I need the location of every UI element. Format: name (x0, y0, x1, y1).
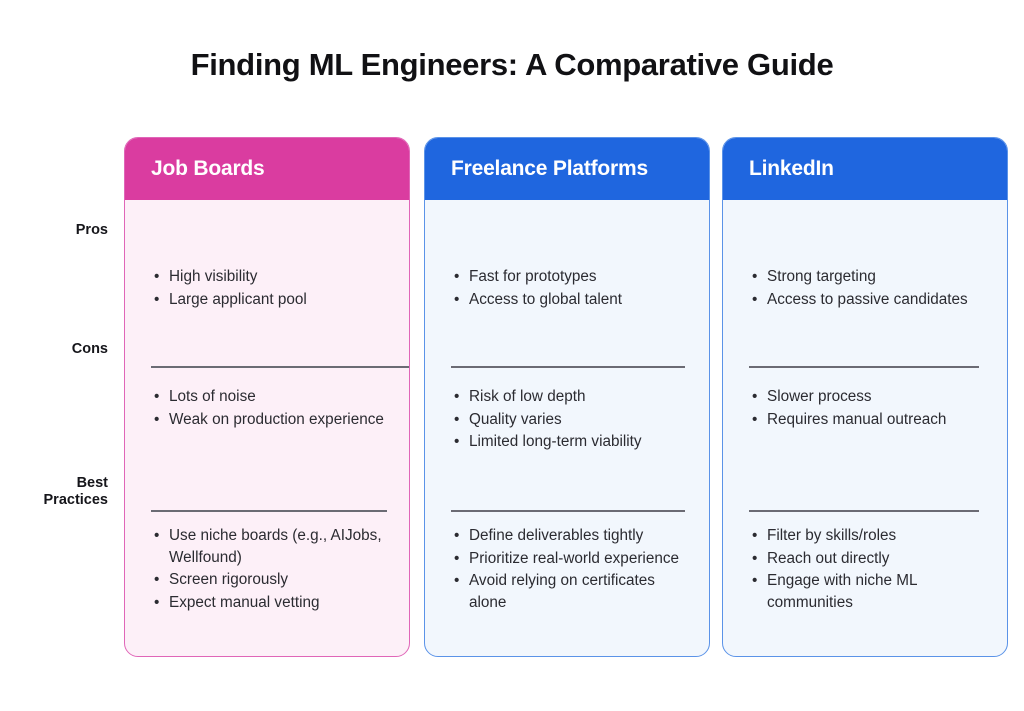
list-item-text: Reach out directly (767, 550, 889, 567)
bullet-icon: • (454, 525, 459, 547)
bullet-icon: • (752, 409, 757, 431)
list-item-text: Screen rigorously (169, 571, 288, 588)
list-item: •Slower process (767, 386, 989, 408)
bullet-icon: • (154, 386, 159, 408)
list-item-text: Requires manual outreach (767, 411, 946, 428)
bullet-icon: • (454, 289, 459, 311)
list-item: •Access to passive candidates (767, 289, 989, 311)
list-item: •Use niche boards (e.g., AIJobs, Wellfou… (169, 525, 391, 568)
list-item: •Strong targeting (767, 266, 989, 288)
section-best-practices: •Define deliverables tightly•Prioritize … (451, 525, 691, 614)
list-item: •Avoid relying on certificates alone (469, 570, 691, 613)
row-label-cons: Cons (14, 341, 108, 358)
list-item: •Screen rigorously (169, 569, 391, 591)
list-item: •Large applicant pool (169, 289, 391, 311)
list-item-text: Define deliverables tightly (469, 527, 643, 544)
list-item-text: Avoid relying on certificates alone (469, 572, 655, 611)
section-divider-2 (151, 510, 387, 512)
list-item: •High visibility (169, 266, 391, 288)
list-item-text: Quality varies (469, 411, 562, 428)
column-header-title: Job Boards (151, 157, 265, 181)
column-header-title: Freelance Platforms (451, 157, 648, 181)
bullet-icon: • (154, 569, 159, 591)
bullet-icon: • (454, 386, 459, 408)
column-body-freelance-platforms: •Fast for prototypes•Access to global ta… (425, 200, 709, 656)
list-item: •Fast for prototypes (469, 266, 691, 288)
row-label-column: Pros Cons Best Practices (14, 137, 108, 667)
best-practices-list: •Define deliverables tightly•Prioritize … (451, 525, 691, 613)
bullet-icon: • (752, 525, 757, 547)
comparison-board: Pros Cons Best Practices Job Boards •Hig… (0, 137, 1024, 667)
list-item-text: Slower process (767, 388, 872, 405)
page-title: Finding ML Engineers: A Comparative Guid… (0, 47, 1024, 83)
section-divider-2 (451, 510, 685, 512)
list-item: •Requires manual outreach (767, 409, 989, 431)
column-card-job-boards: Job Boards •High visibility•Large applic… (124, 137, 410, 657)
list-item-text: Filter by skills/roles (767, 527, 896, 544)
section-pros: •Strong targeting•Access to passive cand… (749, 266, 989, 311)
section-cons: •Slower process•Requires manual outreach (749, 386, 989, 431)
section-divider-1 (151, 366, 410, 368)
list-item-text: Access to global talent (469, 291, 622, 308)
row-label-best-practices: Best Practices (14, 475, 108, 509)
bullet-icon: • (454, 409, 459, 431)
list-item-text: Prioritize real-world experience (469, 550, 679, 567)
column-header-linkedin: LinkedIn (723, 138, 1007, 200)
list-item: •Filter by skills/roles (767, 525, 989, 547)
list-item: •Access to global talent (469, 289, 691, 311)
section-pros: •High visibility•Large applicant pool (151, 266, 391, 311)
best-practices-list: •Use niche boards (e.g., AIJobs, Wellfou… (151, 525, 391, 613)
pros-list: •Strong targeting•Access to passive cand… (749, 266, 989, 310)
cons-list: •Slower process•Requires manual outreach (749, 386, 989, 430)
list-item-text: Fast for prototypes (469, 268, 597, 285)
bullet-icon: • (752, 266, 757, 288)
row-label-best-line1: Best (14, 475, 108, 492)
list-item-text: Large applicant pool (169, 291, 307, 308)
section-best-practices: •Filter by skills/roles•Reach out direct… (749, 525, 989, 614)
bullet-icon: • (454, 431, 459, 453)
list-item: •Engage with niche ML communities (767, 570, 989, 613)
list-item: •Risk of low depth (469, 386, 691, 408)
bullet-icon: • (454, 548, 459, 570)
column-header-freelance-platforms: Freelance Platforms (425, 138, 709, 200)
list-item: •Define deliverables tightly (469, 525, 691, 547)
bullet-icon: • (454, 266, 459, 288)
list-item: •Weak on production experience (169, 409, 391, 431)
bullet-icon: • (752, 289, 757, 311)
list-item-text: Use niche boards (e.g., AIJobs, Wellfoun… (169, 527, 382, 566)
best-practices-list: •Filter by skills/roles•Reach out direct… (749, 525, 989, 613)
bullet-icon: • (752, 386, 757, 408)
bullet-icon: • (154, 409, 159, 431)
column-body-job-boards: •High visibility•Large applicant pool •L… (125, 200, 409, 656)
bullet-icon: • (752, 548, 757, 570)
list-item: •Limited long-term viability (469, 431, 691, 453)
cons-list: •Risk of low depth•Quality varies•Limite… (451, 386, 691, 453)
column-card-linkedin: LinkedIn •Strong targeting•Access to pas… (722, 137, 1008, 657)
bullet-icon: • (154, 525, 159, 547)
list-item-text: Access to passive candidates (767, 291, 968, 308)
list-item: •Prioritize real-world experience (469, 548, 691, 570)
list-item-text: Risk of low depth (469, 388, 585, 405)
list-item-text: High visibility (169, 268, 257, 285)
list-item-text: Engage with niche ML communities (767, 572, 917, 611)
column-body-linkedin: •Strong targeting•Access to passive cand… (723, 200, 1007, 656)
row-label-pros: Pros (14, 222, 108, 239)
section-cons: •Lots of noise•Weak on production experi… (151, 386, 391, 431)
list-item-text: Limited long-term viability (469, 433, 642, 450)
bullet-icon: • (154, 289, 159, 311)
section-divider-1 (451, 366, 685, 368)
section-cons: •Risk of low depth•Quality varies•Limite… (451, 386, 691, 454)
cons-list: •Lots of noise•Weak on production experi… (151, 386, 391, 430)
list-item-text: Expect manual vetting (169, 594, 320, 611)
list-item: •Lots of noise (169, 386, 391, 408)
section-divider-2 (749, 510, 979, 512)
section-divider-1 (749, 366, 979, 368)
list-item: •Reach out directly (767, 548, 989, 570)
bullet-icon: • (454, 570, 459, 592)
bullet-icon: • (154, 266, 159, 288)
pros-list: •Fast for prototypes•Access to global ta… (451, 266, 691, 310)
list-item-text: Strong targeting (767, 268, 876, 285)
list-item-text: Lots of noise (169, 388, 256, 405)
pros-list: •High visibility•Large applicant pool (151, 266, 391, 310)
section-pros: •Fast for prototypes•Access to global ta… (451, 266, 691, 311)
bullet-icon: • (154, 592, 159, 614)
row-label-best-line2: Practices (14, 492, 108, 509)
list-item: •Expect manual vetting (169, 592, 391, 614)
section-best-practices: •Use niche boards (e.g., AIJobs, Wellfou… (151, 525, 391, 614)
list-item-text: Weak on production experience (169, 411, 384, 428)
column-header-title: LinkedIn (749, 157, 834, 181)
list-item: •Quality varies (469, 409, 691, 431)
bullet-icon: • (752, 570, 757, 592)
column-card-freelance-platforms: Freelance Platforms •Fast for prototypes… (424, 137, 710, 657)
column-header-job-boards: Job Boards (125, 138, 409, 200)
